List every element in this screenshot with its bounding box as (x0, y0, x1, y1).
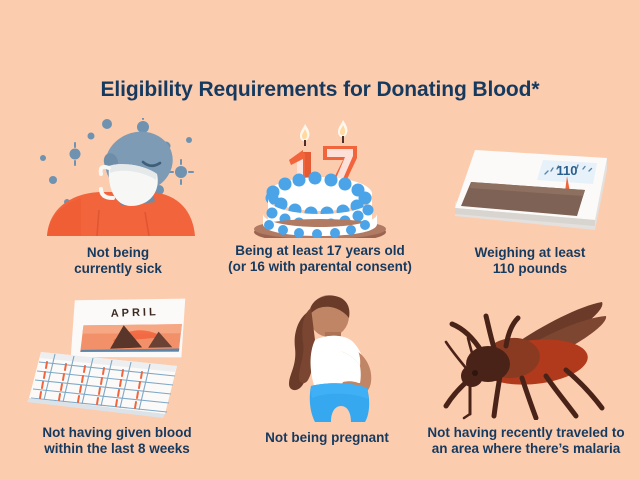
requirement-caption-pregnant: Not being pregnant (232, 430, 422, 446)
requirement-card-interval: APRIL (4, 290, 230, 475)
requirements-grid: Not being currently sick (0, 118, 640, 478)
page-title: Eligibility Requirements for Donating Bl… (0, 78, 640, 102)
sick-person-with-mask-icon (8, 118, 228, 236)
requirement-card-sick: Not being currently sick (8, 118, 228, 298)
requirement-caption-interval: Not having given blood within the last 8… (4, 425, 230, 458)
infographic-poster: Eligibility Requirements for Donating Bl… (0, 0, 640, 480)
requirement-caption-sick: Not being currently sick (8, 245, 228, 278)
requirement-card-malaria: Not having recently traveled to an area … (414, 290, 638, 475)
bathroom-scale-icon: 110 (428, 126, 632, 238)
wall-calendar-icon: APRIL (4, 290, 230, 418)
calendar-month-text: APRIL (111, 306, 159, 320)
mosquito-icon (414, 290, 638, 420)
requirement-card-pregnant: Not being pregnant (232, 290, 422, 475)
requirement-caption-age: Being at least 17 years old (or 16 with … (212, 243, 428, 276)
requirement-caption-malaria: Not having recently traveled to an area … (414, 425, 638, 458)
requirement-card-weight: 110 Weighing at least 110 pounds (428, 118, 632, 298)
pregnant-woman-icon (232, 290, 422, 422)
birthday-cake-icon (212, 118, 428, 238)
requirement-caption-weight: Weighing at least 110 pounds (428, 245, 632, 278)
requirement-card-age: Being at least 17 years old (or 16 with … (212, 118, 428, 298)
scale-reading-text: 110 (557, 163, 578, 178)
